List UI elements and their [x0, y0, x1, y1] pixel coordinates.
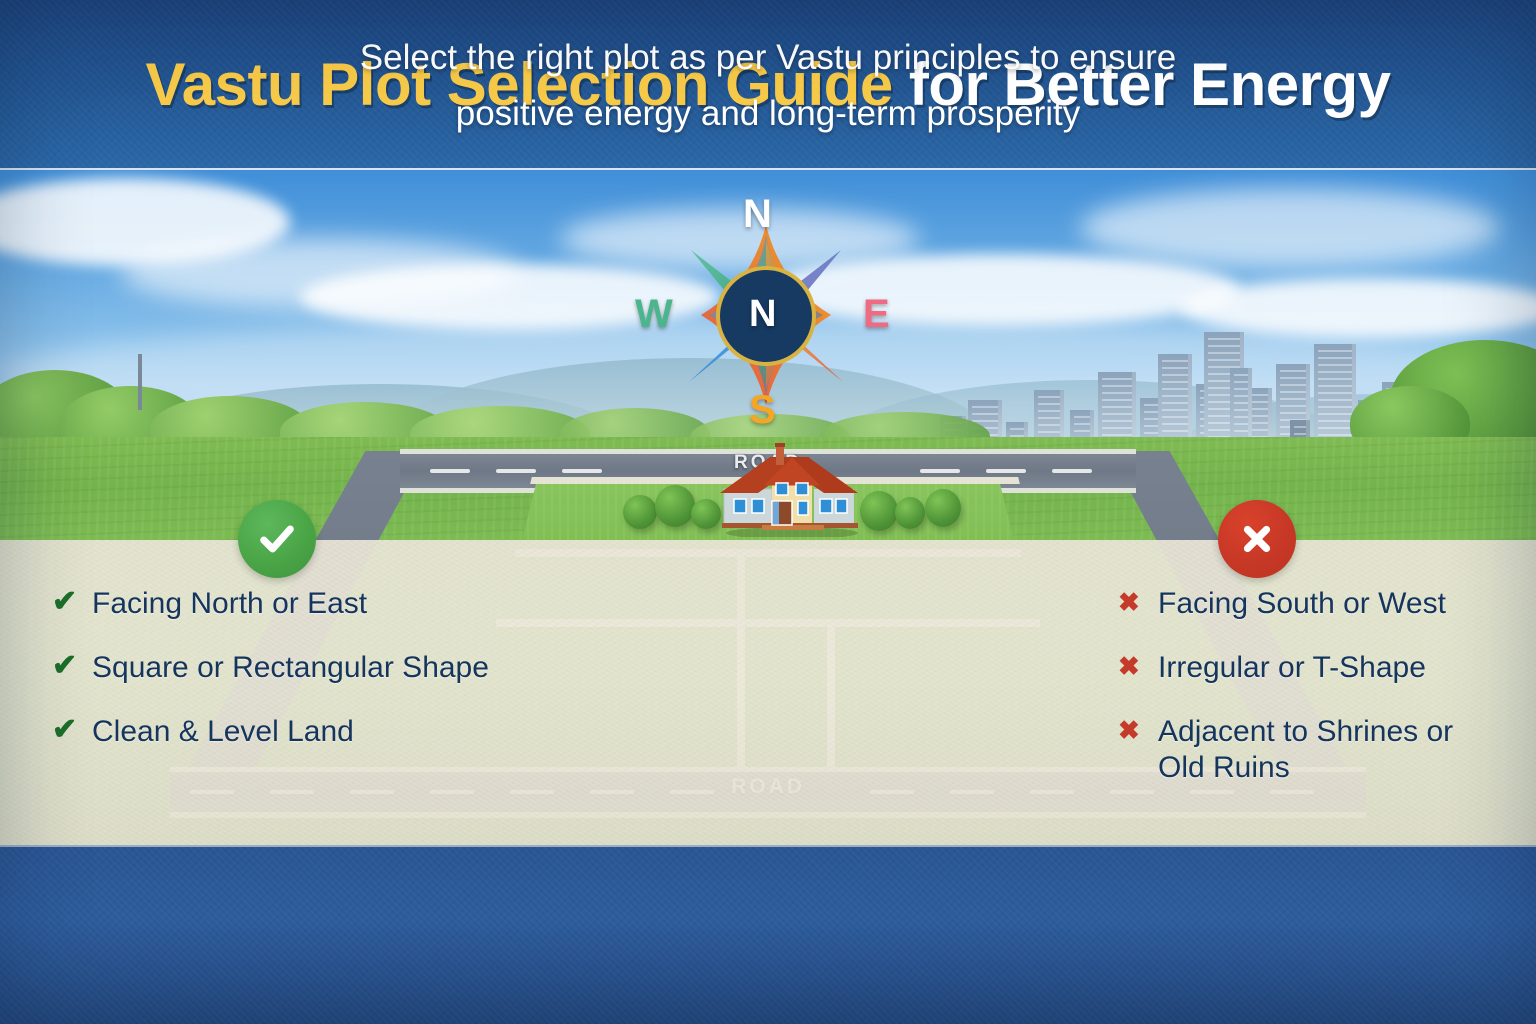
cloud [1080, 188, 1500, 268]
cross-icon [1236, 518, 1278, 560]
plot-tree [623, 495, 657, 529]
footer-band [0, 845, 1536, 1024]
house-svg [706, 437, 866, 537]
utility-pole [138, 354, 142, 410]
bad-item-label: Adjacent to Shrines or Old Ruins [1158, 714, 1488, 786]
plot-tree [895, 497, 925, 529]
footer-line-2: positive energy and long-term prosperity [0, 86, 1536, 142]
check-badge [238, 500, 316, 578]
cross-mark-icon: ✖ [1118, 714, 1144, 746]
list-item: ✔ Facing North or East [52, 586, 592, 622]
compass-rose: N E S W N [631, 190, 901, 440]
good-item-label: Facing North or East [92, 586, 367, 622]
list-item: ✖ Adjacent to Shrines or Old Ruins [1118, 714, 1518, 786]
infographic-canvas: ROAD [0, 0, 1536, 1024]
good-item-label: Square or Rectangular Shape [92, 650, 489, 686]
plot-tree [925, 489, 961, 527]
footer-line-1: Select the right plot as per Vastu princ… [0, 30, 1536, 86]
cross-mark-icon: ✖ [1118, 586, 1144, 618]
cross-badge [1218, 500, 1296, 578]
compass-south-label: S [749, 390, 776, 430]
compass-west-label: W [635, 294, 673, 334]
good-list: ✔ Facing North or East ✔ Square or Recta… [52, 586, 592, 778]
compass-east-label: E [863, 294, 890, 334]
compass-north-label: N [743, 194, 772, 234]
list-item: ✔ Clean & Level Land [52, 714, 592, 750]
list-item: ✔ Square or Rectangular Shape [52, 650, 592, 686]
bad-list: ✖ Facing South or West ✖ Irregular or T-… [1118, 586, 1518, 814]
plot-tree [655, 485, 695, 527]
check-mark-icon: ✔ [52, 650, 78, 682]
bad-item-label: Irregular or T-Shape [1158, 650, 1426, 686]
check-icon [255, 517, 299, 561]
good-item-label: Clean & Level Land [92, 714, 354, 750]
compass-center-label: N [749, 295, 776, 333]
check-mark-icon: ✔ [52, 714, 78, 746]
check-mark-icon: ✔ [52, 586, 78, 618]
cross-mark-icon: ✖ [1118, 650, 1144, 682]
list-item: ✖ Irregular or T-Shape [1118, 650, 1518, 686]
footer-caption: Select the right plot as per Vastu princ… [0, 30, 1536, 142]
list-item: ✖ Facing South or West [1118, 586, 1518, 622]
house-illustration [706, 437, 866, 537]
bad-item-label: Facing South or West [1158, 586, 1446, 622]
